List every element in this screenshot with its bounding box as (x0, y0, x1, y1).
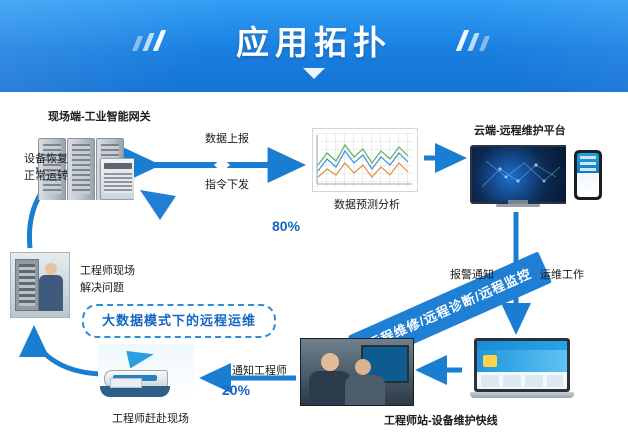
engineer-site-label-line2: 解决问题 (80, 279, 124, 295)
industrial-gateway-icon (100, 158, 134, 200)
device-recovery-line2: 正常运转 (24, 167, 68, 183)
desktop-monitor-icon (470, 145, 566, 207)
line-chart-icon (312, 128, 418, 192)
edge-diamond-decoration (214, 158, 230, 172)
edge-label-command-dispatch: 指令下发 (205, 176, 249, 192)
engineer-station-caption: 工程师站-设备维护快线 (384, 412, 498, 428)
smartphone-icon (574, 150, 602, 200)
percent-remote: 80% (272, 218, 300, 234)
engineer-travel-caption: 工程师赶赴现场 (112, 410, 189, 426)
chart-lines (313, 129, 417, 191)
transport-illustration (98, 344, 194, 400)
analytics-caption: 数据预测分析 (334, 196, 400, 212)
big-data-callout: 大数据模式下的远程运维 (82, 304, 276, 338)
edge-label-notify-engineer: 通知工程师 (232, 362, 287, 378)
cloud-platform-title: 云端-远程维护平台 (474, 122, 566, 138)
diagram-canvas: 应用拓扑 远程维修/远程诊断/远程监控 (0, 0, 628, 446)
engineer-at-rack-photo (10, 252, 70, 318)
edge-label-alarm-notice: 报警通知 (450, 266, 494, 282)
device-recovery-line1: 设备恢复 (24, 150, 68, 166)
field-gateway-title: 现场端-工业智能网关 (48, 108, 151, 124)
engineer-site-label-line1: 工程师现场 (80, 262, 135, 278)
two-engineers-photo (300, 338, 414, 406)
remote-band-arrowhead (140, 190, 176, 220)
edge-label-ops-work: 运维工作 (540, 266, 584, 282)
laptop-dashboard-icon (470, 338, 574, 402)
edge-label-data-upload: 数据上报 (205, 130, 249, 146)
percent-onsite: 20% (222, 382, 250, 398)
